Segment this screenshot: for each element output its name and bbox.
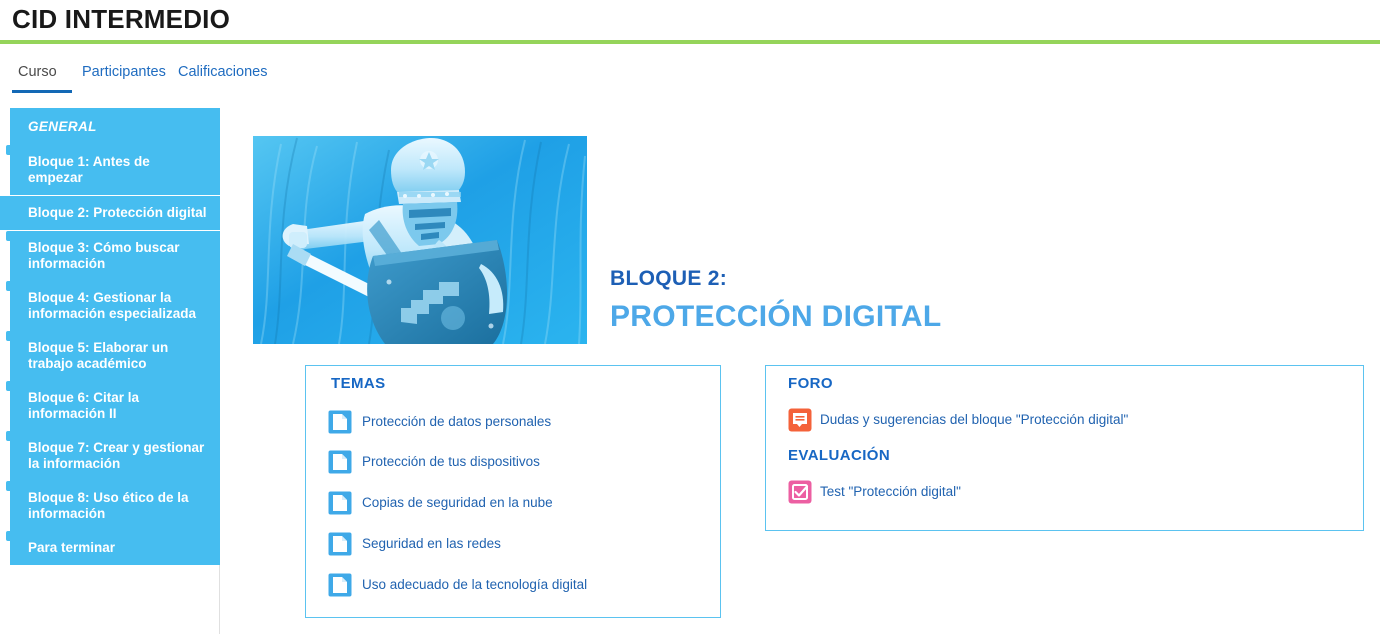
sidebar-item-label: Bloque 5: Elaborar un trabajo académico — [28, 340, 168, 371]
resource-link-proteccion-datos-personales[interactable]: Protección de datos personales — [328, 410, 551, 434]
resource-label: Copias de seguridad en la nube — [362, 495, 553, 511]
panel-foro-heading: FORO — [788, 375, 833, 392]
sidebar-item-label: Para terminar — [28, 540, 115, 555]
active-tab-indicator — [12, 90, 72, 93]
page-icon — [328, 491, 352, 515]
sidebar-item-label: Bloque 3: Cómo buscar información — [28, 240, 180, 271]
forum-link-dudas-sugerencias[interactable]: Dudas y sugerencias del bloque "Protecci… — [788, 408, 1128, 432]
sidebar-item-label: GENERAL — [28, 119, 97, 134]
quiz-link-test-proteccion-digital[interactable]: Test "Protección digital" — [788, 480, 961, 504]
page-icon — [328, 450, 352, 474]
knight-illustration — [253, 136, 587, 344]
sidebar-item-bloque-5[interactable]: Bloque 5: Elaborar un trabajo académico — [10, 331, 220, 381]
sidebar-notch-icon — [6, 481, 11, 491]
panel-foro-evaluacion: FORO Dudas y sugerencias del bloque "Pro… — [765, 365, 1364, 531]
resource-link-seguridad-redes[interactable]: Seguridad en las redes — [328, 532, 501, 556]
page-root: CID INTERMEDIO Curso Participantes Calif… — [0, 0, 1380, 634]
resource-label: Seguridad en las redes — [362, 536, 501, 552]
block-title: PROTECCIÓN DIGITAL — [610, 300, 942, 334]
panel-temas: TEMAS Protección de datos personales Pro… — [305, 365, 721, 618]
page-icon — [328, 410, 352, 434]
sidebar-item-label: Bloque 1: Antes de empezar — [28, 154, 150, 185]
sidebar-item-label: Bloque 7: Crear y gestionar la informaci… — [28, 440, 204, 471]
sidebar-notch-icon — [6, 231, 11, 241]
panel-evaluacion-heading: EVALUACIÓN — [788, 447, 890, 464]
resource-link-proteccion-dispositivos[interactable]: Protección de tus dispositivos — [328, 450, 540, 474]
tab-curso[interactable]: Curso — [18, 64, 57, 80]
tab-participantes[interactable]: Participantes — [82, 64, 166, 80]
sidebar-item-label: Bloque 6: Citar la información II — [28, 390, 139, 421]
sidebar-item-bloque-3[interactable]: Bloque 3: Cómo buscar información — [10, 231, 220, 281]
resource-link-uso-adecuado-tecnologia[interactable]: Uso adecuado de la tecnología digital — [328, 573, 587, 597]
course-index-sidebar: GENERAL Bloque 1: Antes de empezar Bloqu… — [10, 108, 220, 565]
hero-banner-image — [253, 136, 587, 344]
panel-temas-heading: TEMAS — [331, 375, 386, 392]
sidebar-item-label: Bloque 8: Uso ético de la información — [28, 490, 189, 521]
forum-icon — [788, 408, 812, 432]
sidebar-notch-icon — [6, 531, 11, 541]
sidebar-item-para-terminar[interactable]: Para terminar — [10, 531, 220, 565]
sidebar-item-general[interactable]: GENERAL — [10, 108, 220, 145]
sidebar-item-bloque-7[interactable]: Bloque 7: Crear y gestionar la informaci… — [10, 431, 220, 481]
page-title: CID INTERMEDIO — [12, 4, 230, 35]
block-eyebrow-label: BLOQUE 2: — [610, 267, 727, 291]
sidebar-notch-icon — [6, 331, 11, 341]
sidebar-item-label: Bloque 2: Protección digital — [28, 205, 207, 220]
resource-label: Protección de tus dispositivos — [362, 454, 540, 470]
page-icon — [328, 573, 352, 597]
sidebar-item-bloque-4[interactable]: Bloque 4: Gestionar la información espec… — [10, 281, 220, 331]
sidebar-notch-icon — [6, 145, 11, 155]
quiz-checkbox-icon — [788, 480, 812, 504]
sidebar-notch-icon — [6, 431, 11, 441]
tab-calificaciones[interactable]: Calificaciones — [178, 64, 267, 80]
resource-label: Uso adecuado de la tecnología digital — [362, 577, 587, 593]
course-tabbar: Curso Participantes Calificaciones — [0, 56, 1380, 92]
sidebar-item-bloque-2[interactable]: Bloque 2: Protección digital — [0, 195, 220, 231]
header-divider — [0, 40, 1380, 44]
resource-label: Protección de datos personales — [362, 414, 551, 430]
sidebar-item-bloque-6[interactable]: Bloque 6: Citar la información II — [10, 381, 220, 431]
sidebar-item-label: Bloque 4: Gestionar la información espec… — [28, 290, 196, 321]
sidebar-notch-icon — [6, 381, 11, 391]
sidebar-item-bloque-8[interactable]: Bloque 8: Uso ético de la información — [10, 481, 220, 531]
sidebar-notch-icon — [6, 281, 11, 291]
page-icon — [328, 532, 352, 556]
quiz-label: Test "Protección digital" — [820, 484, 961, 500]
forum-label: Dudas y sugerencias del bloque "Protecci… — [820, 412, 1128, 428]
resource-link-copias-seguridad-nube[interactable]: Copias de seguridad en la nube — [328, 491, 553, 515]
sidebar-item-bloque-1[interactable]: Bloque 1: Antes de empezar — [10, 145, 220, 195]
